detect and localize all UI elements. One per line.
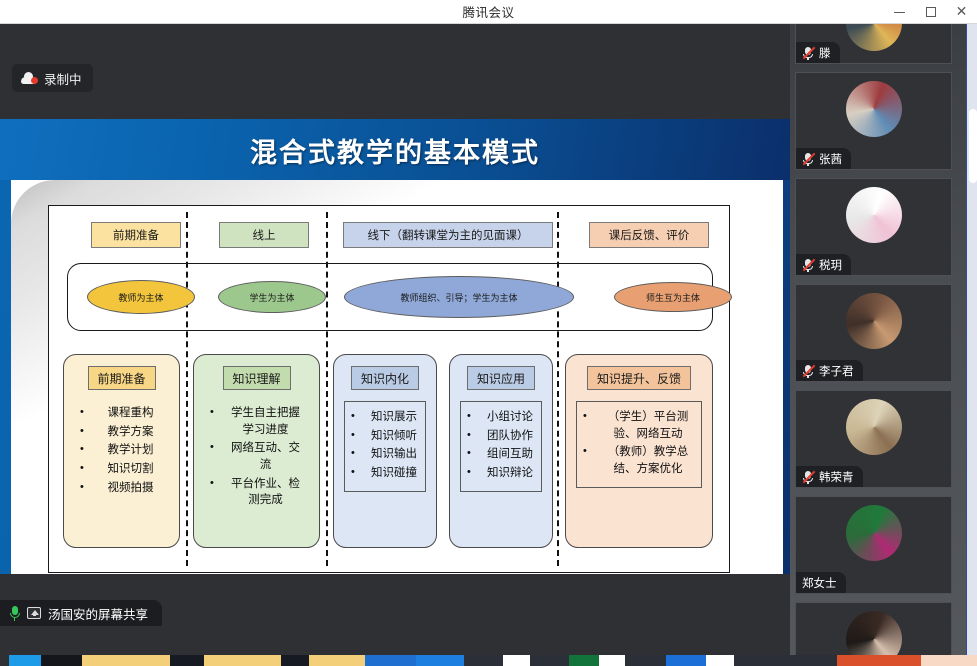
participant-name-chip: 李子君 bbox=[796, 360, 863, 381]
taskbar-item[interactable] bbox=[503, 655, 529, 666]
participant-scrollbar[interactable] bbox=[966, 24, 977, 666]
phase-header-2: 线上 bbox=[219, 222, 309, 248]
taskbar-item[interactable] bbox=[416, 655, 465, 666]
microphone-muted-icon bbox=[802, 152, 814, 166]
taskbar-item[interactable] bbox=[41, 655, 82, 666]
bullet-icon: • bbox=[210, 405, 214, 421]
slide-body-panel: 前期准备线上线下（翻转课堂为主的见面课）课后反馈、评价 教师为主体学生为主体教师… bbox=[11, 180, 783, 574]
participant-name-chip: 滕 bbox=[796, 42, 840, 63]
stage-card-item: •团队协作 bbox=[461, 428, 537, 445]
bullet-icon: • bbox=[210, 440, 214, 456]
window-controls: ✕ bbox=[884, 0, 977, 24]
role-oval-4: 师生互为主体 bbox=[614, 282, 732, 312]
role-oval-row: 教师为主体学生为主体教师组织、引导；学生为主体师生互为主体 bbox=[67, 263, 713, 331]
stage-card-item: •知识展示 bbox=[345, 409, 421, 426]
stage-card-body: •小组讨论•团队协作•组间互助•知识辩论 bbox=[460, 401, 542, 492]
microphone-on-icon bbox=[9, 606, 20, 621]
stage-card-item: •知识碰撞 bbox=[345, 465, 421, 482]
screen-share-label: 汤国安的屏幕共享 bbox=[48, 604, 148, 623]
stage-card-item-label: 网络互动、交流 bbox=[226, 440, 305, 473]
taskbar-item[interactable] bbox=[204, 655, 281, 666]
role-oval-2: 学生为主体 bbox=[218, 281, 326, 313]
avatar bbox=[846, 187, 902, 243]
stage-card-item: •（学生）平台测验、网络互动 bbox=[577, 409, 697, 442]
stage-card-item: •知识倾听 bbox=[345, 428, 421, 445]
slide-left-accent-bar bbox=[0, 180, 11, 574]
bullet-icon: • bbox=[351, 409, 355, 425]
stage-card-item-label: （教师）教学总结、方案优化 bbox=[599, 444, 697, 477]
participant-tile[interactable]: 滕 bbox=[795, 24, 952, 64]
stage-card-title: 知识应用 bbox=[467, 366, 535, 390]
microphone-muted-icon bbox=[802, 46, 814, 60]
participant-name: 张茜 bbox=[819, 151, 842, 167]
bullet-icon: • bbox=[80, 424, 84, 440]
taskbar-item[interactable] bbox=[170, 655, 204, 666]
taskbar-item[interactable] bbox=[464, 655, 503, 666]
os-taskbar[interactable] bbox=[0, 655, 977, 666]
bullet-icon: • bbox=[80, 480, 84, 496]
minimize-icon bbox=[894, 12, 905, 13]
participant-name: 郑女士 bbox=[802, 575, 837, 591]
microphone-muted-icon bbox=[802, 364, 814, 378]
stage-card-1: 前期准备•课程重构•教学方案•教学计划•知识切割•视频拍摄 bbox=[63, 354, 180, 548]
phase-header-4: 课后反馈、评价 bbox=[589, 222, 709, 248]
screen-share-icon bbox=[27, 607, 41, 619]
stage-card-item-label: 学生自主把握学习进度 bbox=[226, 405, 305, 438]
avatar bbox=[846, 24, 902, 51]
role-oval-1: 教师为主体 bbox=[87, 280, 195, 314]
stage-card-item: •知识切割 bbox=[74, 461, 165, 478]
avatar bbox=[846, 293, 902, 349]
stage-card-4: 知识应用•小组讨论•团队协作•组间互助•知识辩论 bbox=[449, 354, 553, 548]
avatar bbox=[846, 399, 902, 455]
stage-card-item: •组间互助 bbox=[461, 446, 537, 463]
stage-card-item-label: 知识展示 bbox=[371, 409, 417, 426]
participant-name-chip: 张茜 bbox=[796, 148, 851, 169]
stage-card-item-label: 知识切割 bbox=[108, 461, 154, 478]
bullet-icon: • bbox=[80, 405, 84, 421]
close-button[interactable]: ✕ bbox=[946, 0, 977, 24]
bullet-icon: • bbox=[583, 444, 587, 460]
bullet-icon: • bbox=[351, 465, 355, 481]
phase-header-row: 前期准备线上线下（翻转课堂为主的见面课）课后反馈、评价 bbox=[49, 222, 731, 250]
participant-tile[interactable]: 韩荣青 bbox=[795, 390, 952, 488]
participant-tile[interactable]: 张茜 bbox=[795, 72, 952, 170]
participant-name-chip: 韩荣青 bbox=[796, 466, 863, 487]
bullet-icon: • bbox=[80, 461, 84, 477]
presentation-slide: 混合式教学的基本模式 前期准备线上线下（翻转课堂为主的见面课）课后反馈、评价 教… bbox=[0, 119, 790, 574]
taskbar-item[interactable] bbox=[921, 655, 977, 666]
avatar bbox=[846, 81, 902, 137]
stage-card-3: 知识内化•知识展示•知识倾听•知识输出•知识碰撞 bbox=[333, 354, 437, 548]
participant-name: 韩荣青 bbox=[819, 469, 854, 485]
stage-card-item-label: 课程重构 bbox=[108, 405, 154, 422]
stage-card-2: 知识理解•学生自主把握学习进度•网络互动、交流•平台作业、检测完成 bbox=[193, 354, 320, 548]
recording-label: 录制中 bbox=[44, 69, 82, 88]
microphone-muted-icon bbox=[802, 470, 814, 484]
cloud-record-icon bbox=[21, 72, 38, 84]
stage-card-item: •网络互动、交流 bbox=[204, 440, 305, 473]
bullet-icon: • bbox=[467, 428, 471, 444]
taskbar-item[interactable] bbox=[82, 655, 170, 666]
participant-name: 税玥 bbox=[819, 257, 842, 273]
stage-card-body: •课程重构•教学方案•教学计划•知识切割•视频拍摄 bbox=[74, 401, 169, 502]
slide-header: 混合式教学的基本模式 bbox=[0, 119, 790, 180]
stage-card-item: •知识输出 bbox=[345, 446, 421, 463]
screen-share-indicator: 汤国安的屏幕共享 bbox=[0, 600, 162, 626]
stage-card-item-label: 小组讨论 bbox=[487, 409, 533, 426]
participant-tile[interactable]: 郑女士 bbox=[795, 496, 952, 594]
maximize-icon bbox=[926, 7, 936, 17]
stage-card-item-label: 知识输出 bbox=[371, 446, 417, 463]
stage-card-item-label: 平台作业、检测完成 bbox=[226, 476, 305, 509]
participant-tile[interactable]: 李子君 bbox=[795, 284, 952, 382]
shared-screen-stage: 录制中 混合式教学的基本模式 前期准备线上线下（翻转课堂为主的见面课）课后反馈、… bbox=[0, 24, 790, 642]
stage-card-item-label: 知识碰撞 bbox=[371, 465, 417, 482]
slide-right-accent-bar bbox=[783, 180, 790, 574]
taskbar-item[interactable] bbox=[666, 655, 705, 666]
stage-card-item-label: 视频拍摄 bbox=[108, 480, 154, 497]
stage-card-title: 知识内化 bbox=[351, 366, 419, 390]
bullet-icon: • bbox=[351, 446, 355, 462]
minimize-button[interactable] bbox=[884, 0, 915, 24]
phase-header-3: 线下（翻转课堂为主的见面课） bbox=[343, 222, 553, 248]
stage-card-body: •知识展示•知识倾听•知识输出•知识碰撞 bbox=[344, 401, 426, 492]
slide-title: 混合式教学的基本模式 bbox=[0, 131, 790, 170]
stage-card-title: 知识理解 bbox=[222, 366, 290, 390]
bullet-icon: • bbox=[583, 409, 587, 425]
participant-sidebar[interactable]: 滕张茜税玥李子君韩荣青郑女士 bbox=[790, 24, 977, 666]
participant-name: 滕 bbox=[819, 45, 831, 61]
stage-card-item-label: 组间互助 bbox=[487, 446, 533, 463]
stage-card-item: •知识辩论 bbox=[461, 465, 537, 482]
scrollbar-thumb[interactable] bbox=[968, 108, 977, 184]
share-status-bar: 汤国安的屏幕共享 bbox=[0, 600, 790, 631]
stage-card-item: •教学方案 bbox=[74, 424, 165, 441]
taskbar-item[interactable] bbox=[706, 655, 734, 666]
bullet-icon: • bbox=[80, 442, 84, 458]
microphone-muted-icon bbox=[802, 258, 814, 272]
stage-card-item: •平台作业、检测完成 bbox=[204, 476, 305, 509]
taskbar-item[interactable] bbox=[365, 655, 416, 666]
stage-card-title: 前期准备 bbox=[87, 366, 155, 390]
bullet-icon: • bbox=[351, 428, 355, 444]
participant-tile[interactable]: 税玥 bbox=[795, 178, 952, 276]
avatar bbox=[846, 505, 902, 561]
taskbar-item[interactable] bbox=[9, 655, 41, 666]
maximize-button[interactable] bbox=[915, 0, 946, 24]
bullet-icon: • bbox=[467, 465, 471, 481]
taskbar-item[interactable] bbox=[599, 655, 625, 666]
window-title: 腾讯会议 bbox=[462, 2, 514, 21]
taskbar-item[interactable] bbox=[309, 655, 365, 666]
teaching-model-diagram: 前期准备线上线下（翻转课堂为主的见面课）课后反馈、评价 教师为主体学生为主体教师… bbox=[48, 205, 730, 573]
taskbar-item[interactable] bbox=[569, 655, 599, 666]
tencent-meeting-window: 腾讯会议 ✕ 录制中 混合式教学的基本模式 前期准备线上线下（翻转课堂为 bbox=[0, 0, 977, 666]
stage-card-item-label: 教学计划 bbox=[108, 442, 154, 459]
title-bar: 腾讯会议 ✕ bbox=[0, 0, 977, 24]
stage-card-item-label: 知识辩论 bbox=[487, 465, 533, 482]
taskbar-item[interactable] bbox=[0, 655, 9, 666]
stage-card-item-label: 教学方案 bbox=[108, 424, 154, 441]
stage-card-item: •（教师）教学总结、方案优化 bbox=[577, 444, 697, 477]
participant-name: 李子君 bbox=[819, 363, 854, 379]
bullet-icon: • bbox=[467, 446, 471, 462]
stage-card-item: •课程重构 bbox=[74, 405, 165, 422]
stage-card-5: 知识提升、反馈•（学生）平台测验、网络互动•（教师）教学总结、方案优化 bbox=[565, 354, 713, 548]
phase-header-1: 前期准备 bbox=[91, 222, 181, 248]
participant-name-chip: 税玥 bbox=[796, 254, 851, 275]
stage-card-item: •教学计划 bbox=[74, 442, 165, 459]
stage-card-item: •视频拍摄 bbox=[74, 480, 165, 497]
taskbar-item[interactable] bbox=[281, 655, 309, 666]
bullet-icon: • bbox=[467, 409, 471, 425]
stage-card-item: •学生自主把握学习进度 bbox=[204, 405, 305, 438]
bullet-icon: • bbox=[210, 476, 214, 492]
taskbar-item[interactable] bbox=[837, 655, 921, 666]
taskbar-item[interactable] bbox=[734, 655, 837, 666]
stage-card-item-label: 知识倾听 bbox=[371, 428, 417, 445]
recording-badge: 录制中 bbox=[12, 64, 93, 92]
stage-card-title: 知识提升、反馈 bbox=[587, 366, 691, 390]
stage-card-body: •（学生）平台测验、网络互动•（教师）教学总结、方案优化 bbox=[576, 401, 702, 488]
role-oval-3: 教师组织、引导；学生为主体 bbox=[344, 276, 574, 318]
stage-card-body: •学生自主把握学习进度•网络互动、交流•平台作业、检测完成 bbox=[204, 401, 309, 515]
participant-name-chip: 郑女士 bbox=[796, 572, 846, 593]
taskbar-item[interactable] bbox=[530, 655, 569, 666]
stage-card-item-label: （学生）平台测验、网络互动 bbox=[599, 409, 697, 442]
stage-card-item-label: 团队协作 bbox=[487, 428, 533, 445]
taskbar-item[interactable] bbox=[625, 655, 666, 666]
stage-card-item: •小组讨论 bbox=[461, 409, 537, 426]
close-icon: ✕ bbox=[956, 5, 968, 19]
